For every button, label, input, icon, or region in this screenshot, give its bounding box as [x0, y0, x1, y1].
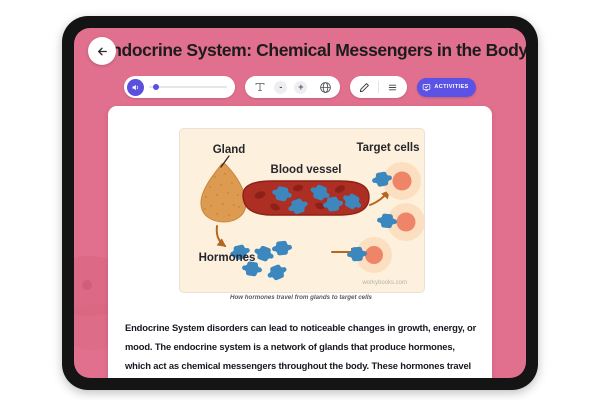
arrow-gland-to-hormones — [217, 226, 225, 246]
toolbar: - + — [74, 72, 526, 102]
lesson-body-text: Endocrine System disorders can lead to n… — [125, 318, 477, 378]
list-lines-icon — [387, 82, 398, 93]
endocrine-diagram: Gland Blood vessel Target cells Hormones… — [180, 129, 424, 292]
volume-slider-track — [149, 86, 227, 89]
illustration-figure: Gland Blood vessel Target cells Hormones… — [179, 128, 423, 306]
background-decoration — [82, 280, 92, 290]
tablet-screen: Endocrine System: Chemical Messengers in… — [74, 28, 526, 378]
speaker-button[interactable] — [127, 79, 144, 96]
volume-control-group — [124, 76, 235, 98]
arrow-left-icon — [96, 45, 109, 58]
tablet-device-frame: Endocrine System: Chemical Messengers in… — [62, 16, 538, 390]
globe-icon — [319, 81, 332, 94]
increase-text-size-button[interactable]: + — [294, 81, 307, 94]
monitor-check-icon — [422, 83, 431, 92]
volume-slider[interactable] — [149, 82, 227, 92]
speaker-icon — [131, 83, 140, 92]
text-format-icon — [254, 81, 266, 93]
illustration-panel: Gland Blood vessel Target cells Hormones… — [179, 128, 425, 293]
label-gland: Gland — [213, 144, 246, 156]
text-tools-group: - + — [245, 76, 340, 98]
gland-shape — [201, 164, 246, 223]
back-button[interactable] — [88, 37, 116, 65]
figure-caption: How hormones travel from glands to targe… — [179, 294, 423, 301]
watermark: workybooks.com — [361, 280, 407, 286]
activities-button[interactable]: ACTIVITIES — [417, 78, 475, 97]
activities-label: ACTIVITIES — [434, 84, 468, 90]
lesson-content-card: Gland Blood vessel Target cells Hormones… — [108, 106, 492, 378]
arrow-vessel-to-target-cells — [370, 191, 389, 205]
page-title: Endocrine System: Chemical Messengers in… — [100, 28, 526, 72]
pen-icon — [359, 82, 370, 93]
decrease-text-size-button[interactable]: - — [274, 81, 287, 94]
header-bar: Endocrine System: Chemical Messengers in… — [74, 28, 526, 72]
toolbar-divider — [378, 81, 379, 93]
label-hormones: Hormones — [199, 252, 256, 264]
edit-tools-group — [350, 76, 407, 98]
pen-button[interactable] — [357, 80, 372, 95]
label-blood-vessel: Blood vessel — [271, 164, 342, 176]
list-button[interactable] — [385, 80, 400, 95]
label-target-cells: Target cells — [356, 142, 419, 154]
volume-slider-thumb[interactable] — [153, 84, 159, 90]
text-format-button[interactable] — [252, 80, 267, 95]
translate-button[interactable] — [317, 79, 333, 95]
